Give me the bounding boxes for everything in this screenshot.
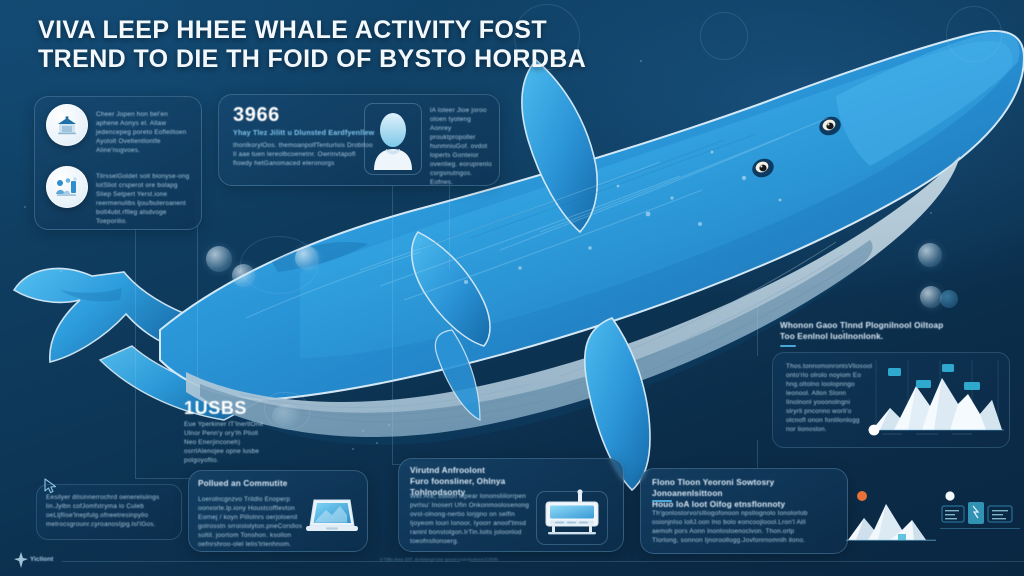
mid-stat-value: 1USBS: [184, 398, 247, 419]
stat-sublabel: Yhay Tlez Jilitt u Dlunsted Eardfyenllew: [233, 128, 375, 138]
left-card-item-1-body: TilrsselGoldet soit bionyse-ong lotSliot…: [96, 172, 192, 226]
chart-accent-bar: [780, 345, 796, 347]
page-title: VIVA LEEP HHEE WHALE ACTIVITY FOST TREND…: [38, 16, 638, 74]
monitor-icon[interactable]: [540, 488, 604, 547]
decorative-bubble-6: [940, 290, 958, 308]
left-card-item-0-body: Cheer Jopen hon bel'en aphene Aonys el. …: [96, 110, 192, 155]
bottom-community-body: Loerolncgnzvo Trildlo Enoperp oonvorle.l…: [198, 495, 304, 549]
footer-microtext: Il Thlllo Ilono 20lT. donlolongn'oloe Ip…: [380, 557, 660, 562]
sanctuary-accent-bar: [652, 500, 672, 502]
bottom-community-heading: Pollued an Commutite: [198, 478, 318, 489]
chart-card-body: Thos.tonnomonrontsVliosool onto'rlo olro…: [786, 362, 862, 434]
brand-logo-icon: [14, 552, 28, 573]
person-avatar-icon[interactable]: [368, 106, 418, 172]
decorative-bubble-5: [920, 286, 942, 308]
stat-body: thonlkorylOos. themoanpolfTenturlsis Dro…: [233, 141, 375, 168]
area-peaks-chart: [868, 356, 1004, 442]
connector-line-vertical-4: [449, 186, 450, 270]
stat-value: 3966: [233, 104, 280, 127]
bottom-dashboard-graphic: [940, 488, 1020, 544]
chart-card-heading: Whonon Gaoo Tlnnd Plognilnool Oiltoap To…: [780, 320, 970, 342]
bottom-note-body: Eesilyer dilsinnerrochrd oenerelsiings l…: [46, 493, 174, 529]
connector-line-vertical-6: [757, 440, 758, 468]
bottom-virtual-body: Wet Are, ssllion litpear lononsliilorrpe…: [410, 492, 530, 546]
infographic-canvas: VIVA LEEP HHEE WHALE ACTIVITY FOST TREND…: [0, 0, 1024, 576]
decorative-bubble-4: [918, 243, 942, 267]
cursor-arrow-icon: [44, 478, 58, 499]
connector-line-vertical-3: [392, 186, 393, 464]
bottom-sanctuary-heading: Flono Tloon Yeoroni Sowtosry Jonoanenlsi…: [652, 477, 832, 510]
decorative-ring-3: [946, 6, 1002, 62]
connector-line-vertical-1: [135, 228, 136, 478]
decorative-bubble-3: [295, 246, 319, 270]
stat-side-text: lA loteer Jioe joroo oloen tyoteng Aonre…: [430, 106, 492, 187]
bottom-mountain-graphic: [846, 486, 936, 548]
decorative-bubble-2: [232, 264, 255, 287]
bottom-sanctuary-body: Th'gonlostorvo/sIliogofonoon npsllognolo…: [652, 509, 816, 545]
cluster-icon[interactable]: [46, 166, 88, 208]
mid-stat-body: Eue Yperkiner lT'lnertlOne Ulnor Penn'y …: [184, 420, 270, 465]
laptop-icon[interactable]: [304, 496, 360, 543]
connector-line-vertical-5: [757, 300, 758, 356]
building-icon[interactable]: [46, 104, 88, 146]
decorative-ring-2: [700, 12, 748, 60]
decorative-bubble-1: [206, 246, 232, 272]
brand-name: Yicllont: [30, 556, 53, 563]
